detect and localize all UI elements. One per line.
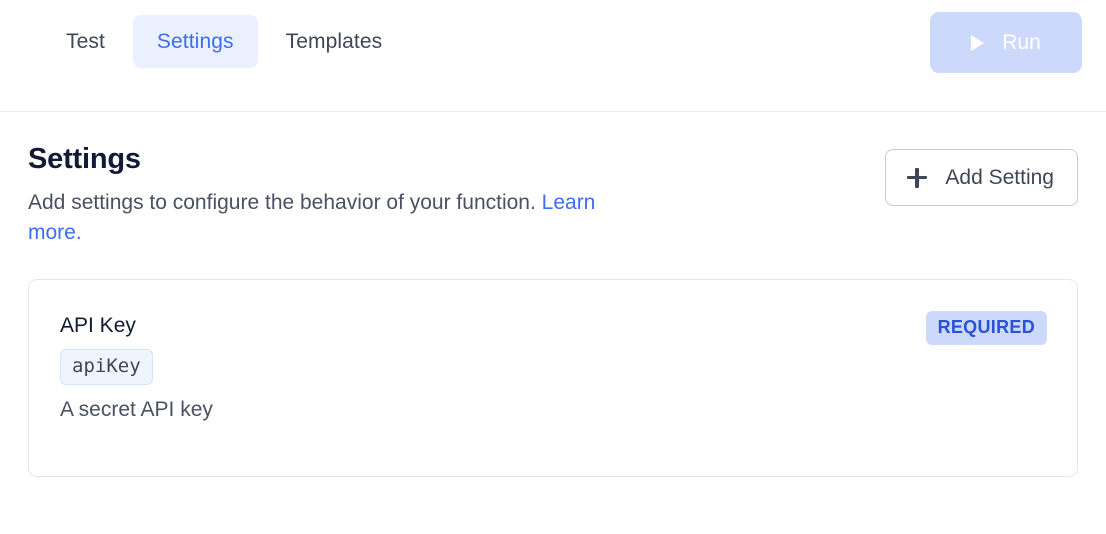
page-title: Settings bbox=[28, 142, 628, 177]
setting-card[interactable]: API Key apiKey A secret API key REQUIRED bbox=[28, 279, 1078, 477]
tab-settings[interactable]: Settings bbox=[133, 15, 258, 68]
tab-test[interactable]: Test bbox=[42, 15, 129, 68]
settings-header: Settings Add settings to configure the b… bbox=[28, 112, 1078, 247]
page-description-text: Add settings to configure the behavior o… bbox=[28, 191, 542, 214]
page-description: Add settings to configure the behavior o… bbox=[28, 188, 628, 248]
settings-list: API Key apiKey A secret API key REQUIRED bbox=[28, 279, 1078, 477]
run-button-label: Run bbox=[1002, 31, 1041, 55]
status-badge: REQUIRED bbox=[926, 311, 1047, 345]
app-root: Test Settings Templates Run Settings Add… bbox=[0, 0, 1106, 534]
tab-templates[interactable]: Templates bbox=[262, 15, 407, 68]
setting-description: A secret API key bbox=[60, 396, 1047, 423]
add-setting-button[interactable]: Add Setting bbox=[885, 149, 1078, 206]
main-content: Settings Add settings to configure the b… bbox=[0, 112, 1106, 477]
tab-bar: Test Settings Templates bbox=[42, 15, 406, 68]
add-setting-button-label: Add Setting bbox=[945, 166, 1054, 190]
setting-key-chip: apiKey bbox=[60, 349, 153, 386]
settings-header-text: Settings Add settings to configure the b… bbox=[28, 142, 628, 247]
run-button[interactable]: Run bbox=[930, 12, 1082, 73]
top-bar: Test Settings Templates Run bbox=[0, 0, 1106, 112]
plus-icon bbox=[907, 168, 927, 188]
setting-name: API Key bbox=[60, 313, 1047, 338]
play-icon bbox=[971, 35, 984, 51]
